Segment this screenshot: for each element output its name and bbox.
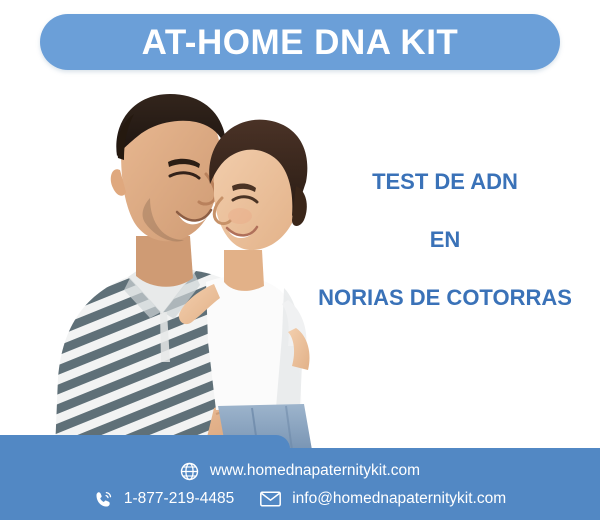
footer-rows: www.homednapaternitykit.com 1-877-219-44…	[0, 435, 600, 520]
email-text: info@homednapaternitykit.com	[292, 491, 506, 507]
email-contact[interactable]: info@homednapaternitykit.com	[260, 491, 506, 507]
footer-contact-bar: www.homednapaternitykit.com 1-877-219-44…	[0, 435, 600, 520]
phone-icon	[94, 490, 113, 509]
footer-website-row: www.homednapaternitykit.com	[0, 460, 600, 482]
envelope-icon	[260, 491, 281, 507]
footer-phone-email-row: 1-877-219-4485 info@homednapaternitykit.…	[0, 488, 600, 510]
header-banner: AT-HOME DNA KIT	[40, 14, 560, 70]
website-text: www.homednapaternitykit.com	[210, 463, 420, 479]
page-title: AT-HOME DNA KIT	[142, 25, 459, 60]
phone-contact[interactable]: 1-877-219-4485	[94, 490, 234, 509]
poster-canvas: AT-HOME DNA KIT	[0, 0, 600, 520]
headline-line-3: NORIAS DE COTORRAS	[290, 287, 600, 309]
headline-line-1: TEST DE ADN	[290, 171, 600, 193]
headline-line-2: EN	[290, 229, 600, 251]
phone-text: 1-877-219-4485	[124, 491, 234, 507]
headline-block: TEST DE ADN EN NORIAS DE COTORRAS	[290, 160, 600, 309]
website-contact[interactable]: www.homednapaternitykit.com	[180, 462, 420, 481]
globe-icon	[180, 462, 199, 481]
